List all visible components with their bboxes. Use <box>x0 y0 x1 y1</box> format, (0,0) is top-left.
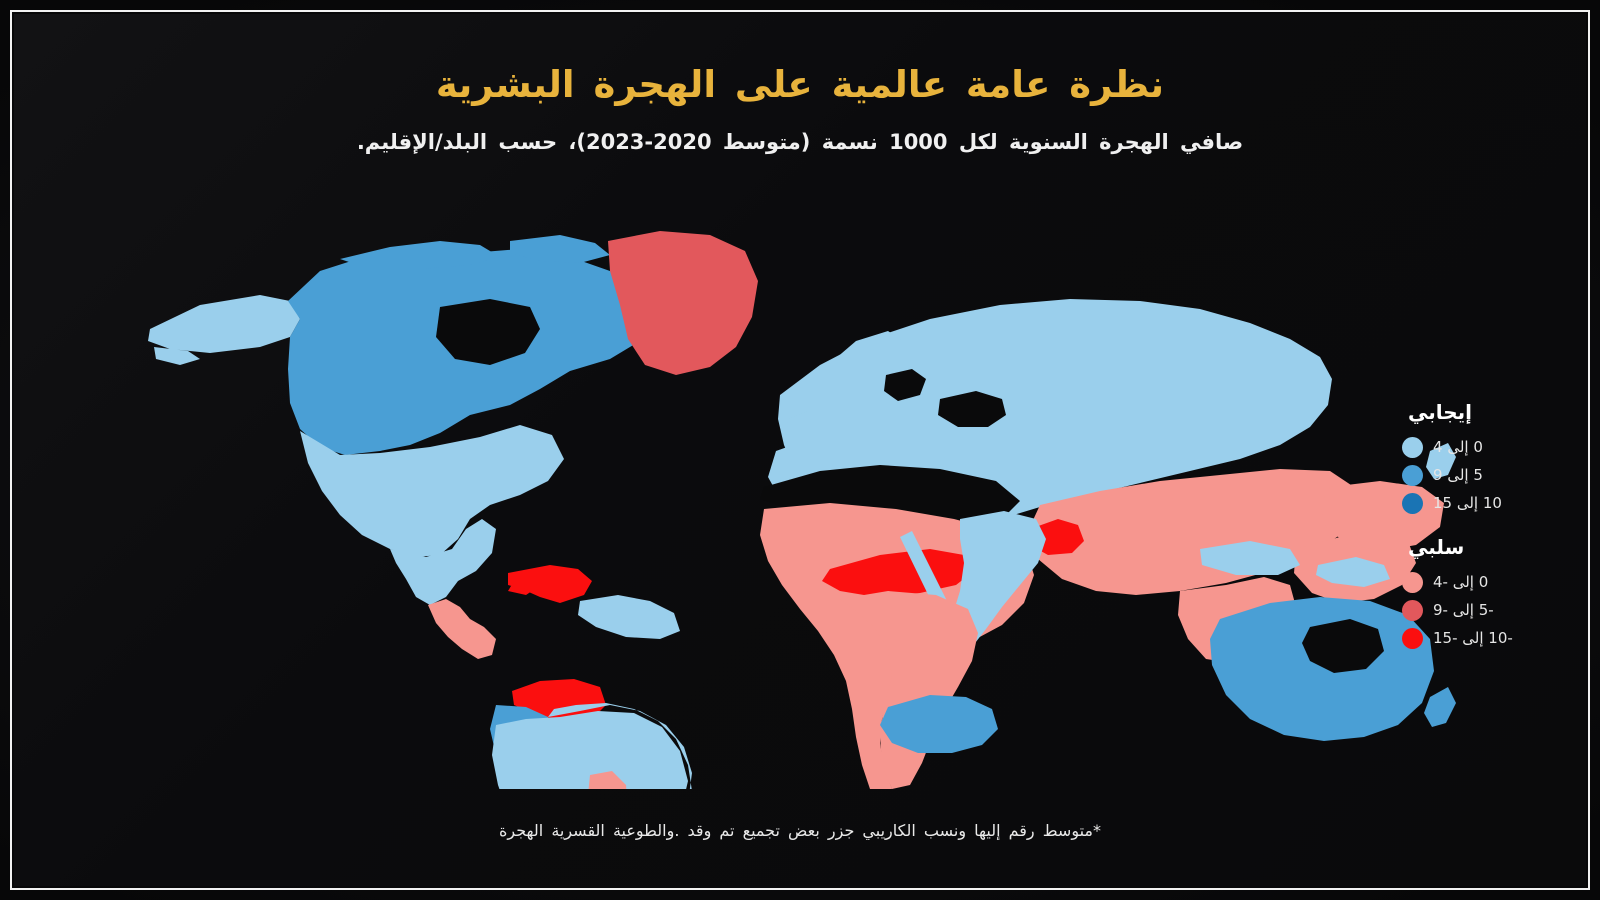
legend-item-positive-0[interactable]: 0 إلى 4 <box>1402 433 1562 461</box>
legend-item-negative-0[interactable]: 0 إلى -4 <box>1402 568 1562 596</box>
page-subtitle: صافي الهجرة السنوية لكل 1000 نسمة (متوسط… <box>14 130 1586 154</box>
region-new-zealand <box>1424 687 1456 727</box>
world-map <box>14 219 1586 789</box>
region-alaska <box>148 295 300 365</box>
world-map-svg <box>140 219 1460 789</box>
region-cuba <box>508 565 592 603</box>
page-title: نظرة عامة عالمية على الهجرة البشرية <box>14 62 1586 108</box>
legend-group-negative: سلبي 0 إلى -4 -5 إلى -9 -10 إلى -15 <box>1402 535 1562 652</box>
legend-swatch-positive-0 <box>1402 437 1423 458</box>
region-australia <box>1210 597 1434 741</box>
legend-item-positive-2[interactable]: 10 إلى 15 <box>1402 489 1562 517</box>
legend: إيجابي 0 إلى 4 5 إلى 9 10 إلى 15 سلبي <box>1402 400 1562 670</box>
header: نظرة عامة عالمية على الهجرة البشرية صافي… <box>14 62 1586 154</box>
region-greenland <box>608 231 758 375</box>
legend-swatch-negative-2 <box>1402 628 1423 649</box>
legend-heading-positive: إيجابي <box>1402 400 1562 424</box>
footnote: *متوسط رقم إليها ونسب الكاريبي جزر بعض ت… <box>14 821 1586 840</box>
legend-item-positive-1[interactable]: 5 إلى 9 <box>1402 461 1562 489</box>
legend-group-positive: إيجابي 0 إلى 4 5 إلى 9 10 إلى 15 <box>1402 400 1562 517</box>
legend-label-negative-2: -10 إلى -15 <box>1433 629 1513 647</box>
poster-root: نظرة عامة عالمية على الهجرة البشرية صافي… <box>0 0 1600 900</box>
region-central-america <box>428 599 496 659</box>
legend-label-negative-1: -5 إلى -9 <box>1433 601 1494 619</box>
legend-swatch-negative-0 <box>1402 572 1423 593</box>
legend-item-negative-2[interactable]: -10 إلى -15 <box>1402 624 1562 652</box>
region-caribbean <box>578 595 680 639</box>
legend-item-negative-1[interactable]: -5 إلى -9 <box>1402 596 1562 624</box>
legend-label-positive-1: 5 إلى 9 <box>1433 466 1483 484</box>
legend-swatch-positive-2 <box>1402 493 1423 514</box>
poster-inner: نظرة عامة عالمية على الهجرة البشرية صافي… <box>14 14 1586 886</box>
legend-label-negative-0: 0 إلى -4 <box>1433 573 1488 591</box>
legend-label-positive-2: 10 إلى 15 <box>1433 494 1502 512</box>
legend-swatch-positive-1 <box>1402 465 1423 486</box>
legend-heading-negative: سلبي <box>1402 535 1562 559</box>
legend-label-positive-0: 0 إلى 4 <box>1433 438 1483 456</box>
legend-swatch-negative-1 <box>1402 600 1423 621</box>
